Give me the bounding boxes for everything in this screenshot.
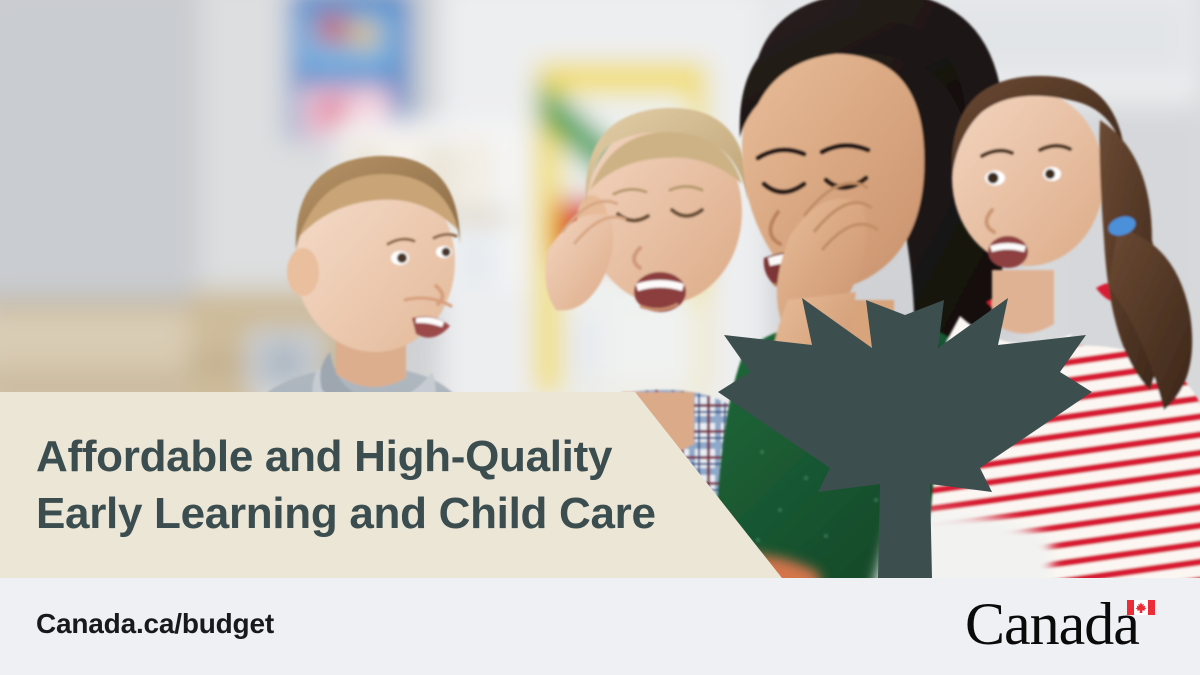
- page-title: Affordable and High-Quality Early Learni…: [36, 428, 656, 542]
- canada-wordmark-text: Canada: [965, 596, 1139, 652]
- title-line-2: Early Learning and Child Care: [36, 485, 656, 542]
- canada-wordmark: Canada: [965, 596, 1155, 652]
- footer-bar: Canada.ca/budget Canada: [0, 578, 1200, 675]
- website-url[interactable]: Canada.ca/budget: [36, 608, 274, 640]
- budget-promotional-poster: Affordable and High-Quality Early Learni…: [0, 0, 1200, 675]
- title-line-1: Affordable and High-Quality: [36, 428, 656, 485]
- canada-flag-icon: [1127, 600, 1155, 615]
